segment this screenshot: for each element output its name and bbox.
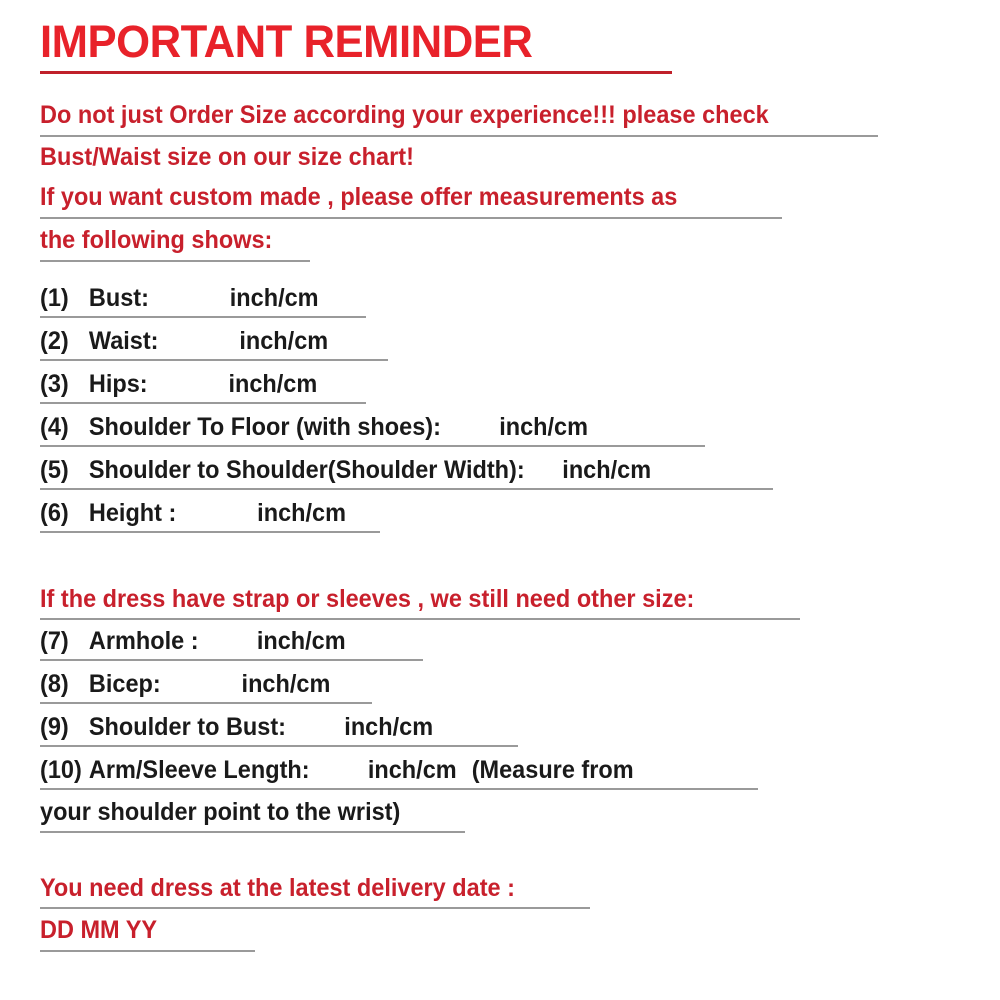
delivery-date-heading: You need dress at the latest delivery da… xyxy=(40,876,545,901)
measurement-unit-2: inch/cm xyxy=(239,327,328,355)
measurement-item-5-underline xyxy=(40,488,773,490)
measurement-label-4: Shoulder To Floor (with shoes): xyxy=(89,413,441,441)
measurement-number-1: (1) xyxy=(40,286,89,311)
measurement-item-4: (4)Shoulder To Floor (with shoes):inch/c… xyxy=(40,415,623,440)
measurement-item-6-underline xyxy=(40,531,380,533)
delivery-date-format-underline xyxy=(40,950,255,952)
measurement-item-8: (8)Bicep:inch/cm xyxy=(40,672,349,697)
measurement-item-1-underline xyxy=(40,316,366,318)
measurement-item-9-underline xyxy=(40,745,518,747)
delivery-date-format: DD MM YY xyxy=(40,918,165,943)
measurement-label-9: Shoulder to Bust: xyxy=(89,713,286,741)
measurement-unit-9: inch/cm xyxy=(344,713,433,741)
intro-line-3: If you want custom made , please offer m… xyxy=(40,185,718,210)
intro-line-3-underline xyxy=(40,217,782,219)
measurement-unit-6: inch/cm xyxy=(257,499,346,527)
reminder-document: IMPORTANT REMINDER Do not just Order Siz… xyxy=(0,0,1000,1000)
measurement-item-8-underline xyxy=(40,702,372,704)
intro-line-2: Bust/Waist size on our size chart! xyxy=(40,145,438,170)
intro-line-4: the following shows: xyxy=(40,228,287,253)
measurement-label-3: Hips: xyxy=(89,370,148,398)
measurement-item-10: (10)Arm/Sleeve Length:inch/cm(Measure fr… xyxy=(40,758,672,783)
measurement-unit-3: inch/cm xyxy=(228,370,317,398)
measurement-note-continuation-underline xyxy=(40,831,465,833)
measurement-unit-10: inch/cm xyxy=(368,756,457,784)
measurement-item-5: (5)Shoulder to Shoulder(Shoulder Width):… xyxy=(40,458,690,483)
measurement-item-6: (6)Height :inch/cm xyxy=(40,501,366,526)
measurement-note-continuation: your shoulder point to the wrist) xyxy=(40,800,423,825)
measurement-number-6: (6) xyxy=(40,501,89,526)
measurement-label-10: Arm/Sleeve Length: xyxy=(89,756,310,784)
intro-line-1-underline xyxy=(40,135,878,137)
measurement-label-2: Waist: xyxy=(89,327,159,355)
measurement-item-10-underline xyxy=(40,788,758,790)
measurement-item-1: (1)Bust:inch/cm xyxy=(40,286,336,311)
measurement-item-7-underline xyxy=(40,659,423,661)
page-title: IMPORTANT REMINDER xyxy=(40,18,913,65)
measurement-label-8: Bicep: xyxy=(89,670,161,698)
title-underline-rule xyxy=(40,71,672,74)
measurement-unit-7: inch/cm xyxy=(257,627,346,655)
title-block: IMPORTANT REMINDER xyxy=(40,18,940,74)
measurement-item-2-underline xyxy=(40,359,388,361)
measurement-item-9: (9)Shoulder to Bust:inch/cm xyxy=(40,715,458,740)
measurement-label-7: Armhole : xyxy=(89,627,199,655)
measurement-item-7: (7)Armhole :inch/cm xyxy=(40,629,365,654)
measurement-number-5: (5) xyxy=(40,458,89,483)
measurement-number-2: (2) xyxy=(40,329,89,354)
measurement-item-2: (2)Waist:inch/cm xyxy=(40,329,347,354)
measurement-item-3-underline xyxy=(40,402,366,404)
measurement-note-10: (Measure from xyxy=(472,756,634,784)
measurement-unit-5: inch/cm xyxy=(562,456,651,484)
measurement-number-10: (10) xyxy=(40,758,89,783)
measurement-item-4-underline xyxy=(40,445,705,447)
measurement-unit-8: inch/cm xyxy=(242,670,331,698)
measurement-unit-4: inch/cm xyxy=(499,413,588,441)
sleeve-section-heading-underline xyxy=(40,618,800,620)
sleeve-section-heading: If the dress have strap or sleeves , we … xyxy=(40,587,736,612)
measurement-label-5: Shoulder to Shoulder(Shoulder Width): xyxy=(89,456,525,484)
intro-line-1: Do not just Order Size according your ex… xyxy=(40,103,815,128)
measurement-number-3: (3) xyxy=(40,372,89,397)
measurement-label-1: Bust: xyxy=(89,284,149,312)
measurement-number-8: (8) xyxy=(40,672,89,697)
measurement-unit-1: inch/cm xyxy=(230,284,319,312)
delivery-date-heading-underline xyxy=(40,907,590,909)
measurement-number-9: (9) xyxy=(40,715,89,740)
measurement-number-4: (4) xyxy=(40,415,89,440)
measurement-label-6: Height : xyxy=(89,499,176,527)
measurement-number-7: (7) xyxy=(40,629,89,654)
measurement-item-3: (3)Hips:inch/cm xyxy=(40,372,335,397)
intro-line-4-underline xyxy=(40,260,310,262)
